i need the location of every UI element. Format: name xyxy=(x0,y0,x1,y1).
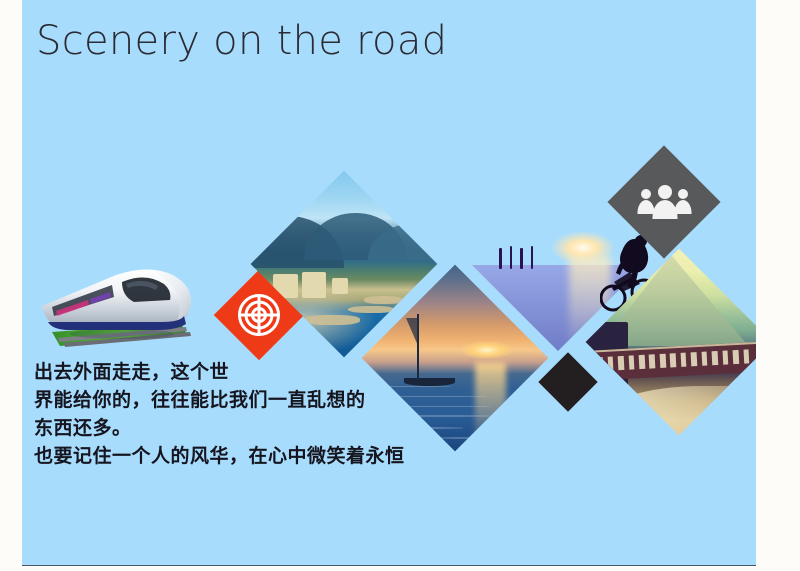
slide-frame: Scenery on the road xyxy=(0,0,800,571)
accent-diamond[interactable] xyxy=(538,352,597,411)
people-group-icon xyxy=(634,179,694,225)
body-paragraph: 出去外面走走，这个世 界能给你的，往往能比我们一直乱想的 东西还多。 也要记住一… xyxy=(34,358,405,470)
page-title: Scenery on the road xyxy=(36,18,447,64)
high-speed-bullet-train-image xyxy=(30,250,210,360)
slide-canvas[interactable]: Scenery on the road xyxy=(22,0,756,566)
target-icon xyxy=(236,292,282,338)
